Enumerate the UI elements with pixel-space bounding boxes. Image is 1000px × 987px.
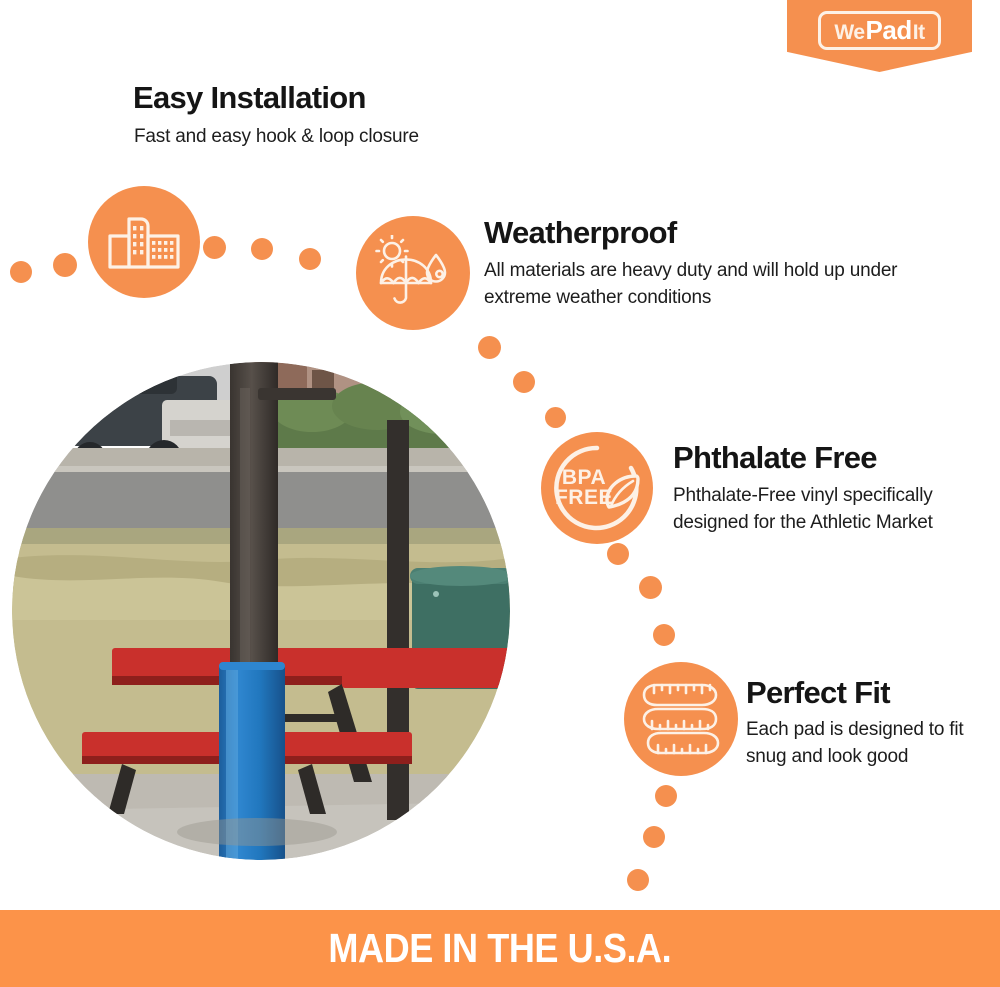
feature-title-perfect-fit: Perfect Fit — [746, 675, 890, 711]
infographic-canvas: We Pad It Easy Installation Fast and eas… — [0, 0, 1000, 987]
trail-dot — [627, 869, 649, 891]
trail-dot — [545, 407, 566, 428]
feature-description-perfect-fit: Each pad is designed to fit snug and loo… — [746, 717, 986, 771]
trail-dot — [643, 826, 665, 848]
feature-title-weatherproof: Weatherproof — [484, 215, 677, 251]
feature-icon-weatherproof[interactable] — [356, 216, 470, 330]
measuring-tape-icon — [638, 679, 724, 759]
feature-icon-perfect-fit[interactable] — [624, 662, 738, 776]
bpa-free-leaf-icon: BPA FREE — [541, 432, 653, 544]
trail-dot — [299, 248, 321, 270]
made-in-usa-banner: MADE IN THE U.S.A. — [0, 910, 1000, 987]
trail-dot — [639, 576, 662, 599]
trail-dot — [203, 236, 226, 259]
feature-description-phthalate-free: Phthalate-Free vinyl specifically design… — [673, 483, 943, 537]
trail-dot — [655, 785, 677, 807]
trail-dot — [513, 371, 535, 393]
product-photo-illustration — [12, 362, 510, 860]
feature-title-easy-installation: Easy Installation — [133, 80, 366, 116]
brand-logo-part-it: It — [913, 22, 925, 43]
trail-dot — [53, 253, 77, 277]
trail-dot — [607, 543, 629, 565]
feature-icon-easy-installation[interactable] — [88, 186, 200, 298]
feature-icon-phthalate-free[interactable]: BPA FREE — [541, 432, 653, 544]
feature-description-weatherproof: All materials are heavy duty and will ho… — [484, 258, 914, 312]
trail-dot — [251, 238, 273, 260]
trail-dot — [478, 336, 501, 359]
trail-dot — [10, 261, 32, 283]
brand-logo-inner: We Pad It — [818, 11, 940, 50]
brand-logo-banner[interactable]: We Pad It — [787, 0, 972, 72]
trail-dot — [653, 624, 675, 646]
product-photo — [12, 362, 510, 860]
brand-logo-part-pad: Pad — [866, 17, 912, 43]
feature-title-phthalate-free: Phthalate Free — [673, 440, 877, 476]
buildings-icon — [107, 210, 181, 274]
brand-logo-part-we: We — [834, 22, 864, 43]
umbrella-sun-raindrop-icon — [373, 235, 453, 311]
made-in-usa-banner-text: MADE IN THE U.S.A. — [329, 925, 672, 972]
feature-description-easy-installation: Fast and easy hook & loop closure — [134, 124, 554, 151]
